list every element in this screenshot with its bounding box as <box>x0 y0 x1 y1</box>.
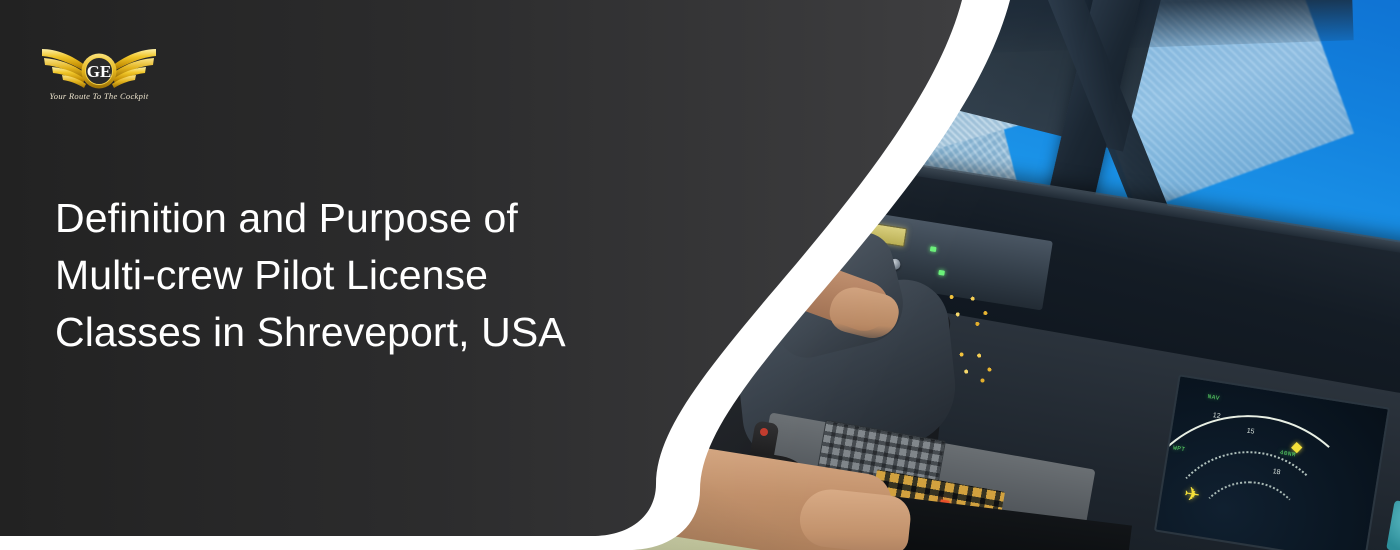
fcu-knob-1 <box>647 208 662 223</box>
nd-aircraft-symbol: ✈ <box>1183 485 1202 506</box>
nd-tick-label-12: 12 <box>1212 412 1221 420</box>
fcu-indicator-led-1 <box>930 246 937 252</box>
panel-content: GE Your Route To The Cockpit Definition … <box>0 0 700 550</box>
logo-ge-badge: GE <box>82 54 117 89</box>
ge-logo[interactable]: GE Your Route To The Cockpit <box>38 33 160 105</box>
ge-logo-graphic: GE Your Route To The Cockpit <box>38 33 160 105</box>
nd-tick-label-18: 18 <box>1272 468 1281 476</box>
fcu-indicator-led-2 <box>938 270 945 276</box>
nd-mode-text: NAV <box>1207 393 1220 402</box>
fcu-knob-3 <box>700 220 714 234</box>
captain-hand-on-throttle <box>797 486 912 550</box>
logo-tagline: Your Route To The Cockpit <box>50 91 149 101</box>
throttle-red-marker <box>760 428 768 436</box>
fcu-knob-2 <box>674 208 688 222</box>
logo-badge-text: GE <box>87 62 112 81</box>
hero-banner: ▪▪▪ ▪▪▪▪▪▪ ▪▪▪ ▪▪▪▪▪▪▪▪▪ ▪▪▪▪▪ ▪ 12 15 1… <box>0 0 1400 550</box>
page-title-line-2: Multi-crew Pilot License <box>55 247 635 304</box>
cockpit-photo-container: ▪▪▪ ▪▪▪▪▪▪ ▪▪▪ ▪▪▪▪▪▪▪▪▪ ▪▪▪▪▪ ▪ 12 15 1… <box>620 0 1400 550</box>
logo-right-wing <box>112 49 156 88</box>
page-title: Definition and Purpose of Multi-crew Pil… <box>55 190 635 361</box>
nd-tick-label-15: 15 <box>1246 428 1255 436</box>
center-switch-cluster <box>947 341 1003 389</box>
page-title-line-1: Definition and Purpose of <box>55 190 635 247</box>
cockpit-photo: ▪▪▪ ▪▪▪▪▪▪ ▪▪▪ ▪▪▪▪▪▪▪▪▪ ▪▪▪▪▪ ▪ 12 15 1… <box>620 0 1400 550</box>
page-title-line-3: Classes in Shreveport, USA <box>55 304 635 361</box>
logo-left-wing <box>42 49 86 88</box>
